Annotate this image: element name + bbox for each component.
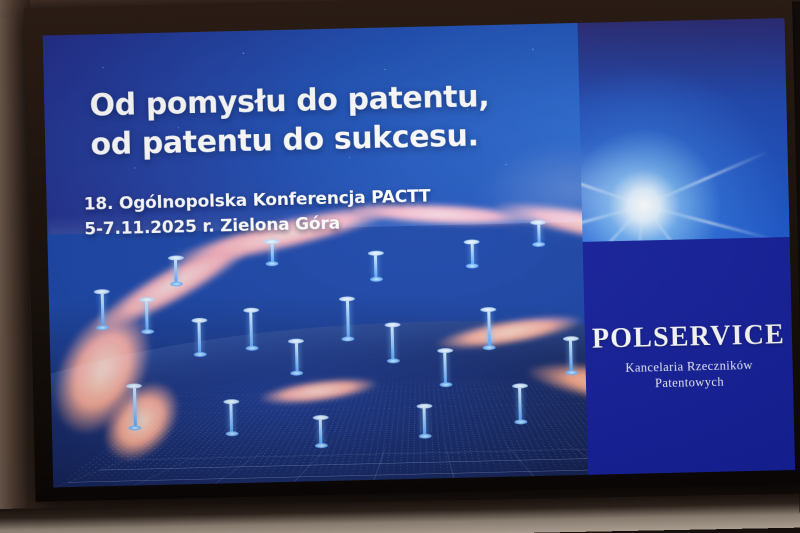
starburst-icon (577, 38, 789, 243)
slide-right-panel: POLSERVICE Kancelaria Rzeczników Patento… (577, 18, 795, 475)
logo-tagline: Kancelaria Rzeczników Patentowych (585, 356, 793, 393)
logo-wordmark: POLSERVICE (585, 321, 793, 354)
map-pin-marker (270, 243, 273, 263)
lens-flare-panel (577, 18, 789, 242)
slide-headline: Od pomysłu do patentu, od patentu do suk… (89, 77, 490, 164)
map-pin-marker (537, 223, 540, 243)
logo-block: POLSERVICE Kancelaria Rzeczników Patento… (583, 237, 795, 475)
projection-screen-frame: POLSERVICE Kancelaria Rzeczników Patento… (24, 0, 800, 502)
polservice-logo: POLSERVICE Kancelaria Rzeczników Patento… (585, 321, 794, 393)
map-pin-marker (422, 406, 426, 434)
map-pin-marker (319, 418, 323, 444)
slide-subheading: 18. Ogólnopolska Konferencja PACTT 5-7.1… (83, 185, 431, 242)
map-pin-marker (374, 254, 378, 278)
map-pin-marker (471, 242, 475, 264)
presentation-slide: POLSERVICE Kancelaria Rzeczników Patento… (43, 18, 795, 487)
screenshot-stage: POLSERVICE Kancelaria Rzeczników Patento… (0, 0, 800, 533)
map-pin-marker (174, 258, 178, 282)
